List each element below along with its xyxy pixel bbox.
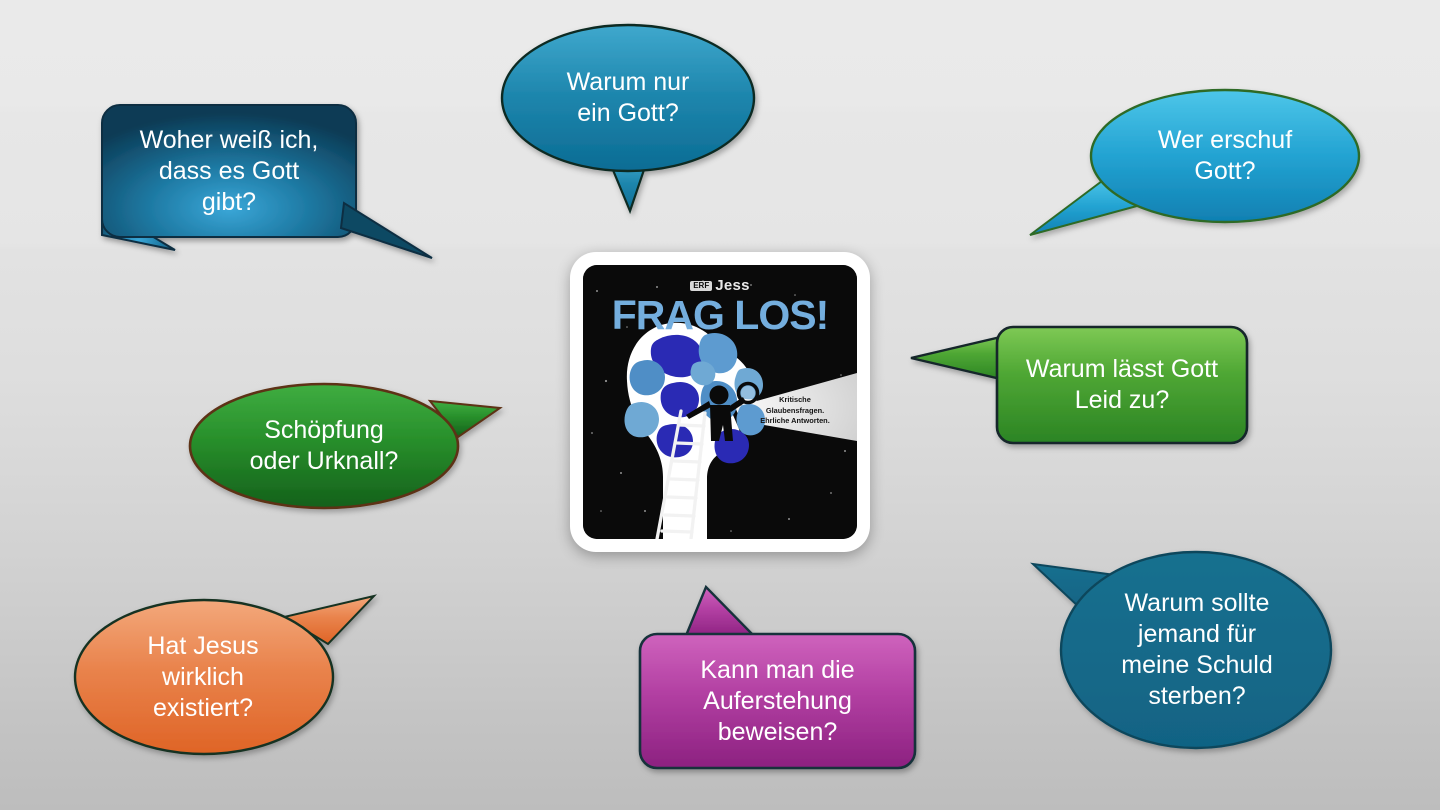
speech-bubble-warum-nur-ein-gott[interactable]: Warum nur ein Gott? [500, 18, 770, 218]
speech-bubble-warum-sollte-jemand-fuer-meine-schuld-sterben[interactable]: Warum sollte jemand für meine Schuld ste… [1022, 542, 1372, 772]
speech-bubble-woher-weiss-ich[interactable]: Woher weiß ich, dass es Gott gibt? [96, 100, 441, 265]
podcast-cover-frag-los[interactable]: ERFJess FRAG LOS! Kritische Glaubensfrag… [570, 252, 870, 552]
bubble-shape-warum-nur-ein-gott [500, 18, 770, 218]
bubble-shape-wer-erschuf-gott [1020, 82, 1370, 252]
bubble-shape-schoepfung-oder-urknall [186, 374, 506, 524]
speech-bubble-warum-laesst-gott-leid-zu[interactable]: Warum lässt Gott Leid zu? [905, 318, 1255, 450]
bubble-shape-kann-man-die-auferstehung-beweisen [628, 572, 928, 777]
speech-bubble-schoepfung-oder-urknall[interactable]: Schöpfung oder Urknall? [186, 374, 506, 524]
speech-bubble-wer-erschuf-gott[interactable]: Wer erschuf Gott? [1020, 82, 1370, 252]
speech-bubble-hat-jesus-wirklich-existiert[interactable]: Hat Jesus wirklich existiert? [62, 582, 392, 772]
bubble-shape-warum-sollte-jemand-fuer-meine-schuld-sterben [1022, 542, 1372, 772]
bubble-shape-hat-jesus-wirklich-existiert [62, 582, 392, 772]
slide-canvas: Woher weiß ich, dass es Gott gibt? Warum… [0, 0, 1440, 810]
bubble-shape-woher-weiss-ich [96, 100, 441, 265]
brain-ladder-illustration [583, 265, 857, 539]
bubble-shape-warum-laesst-gott-leid-zu [905, 318, 1255, 450]
podcast-cover-artwork: ERFJess FRAG LOS! Kritische Glaubensfrag… [583, 265, 857, 539]
speech-bubble-kann-man-die-auferstehung-beweisen[interactable]: Kann man die Auferstehung beweisen? [628, 572, 928, 777]
